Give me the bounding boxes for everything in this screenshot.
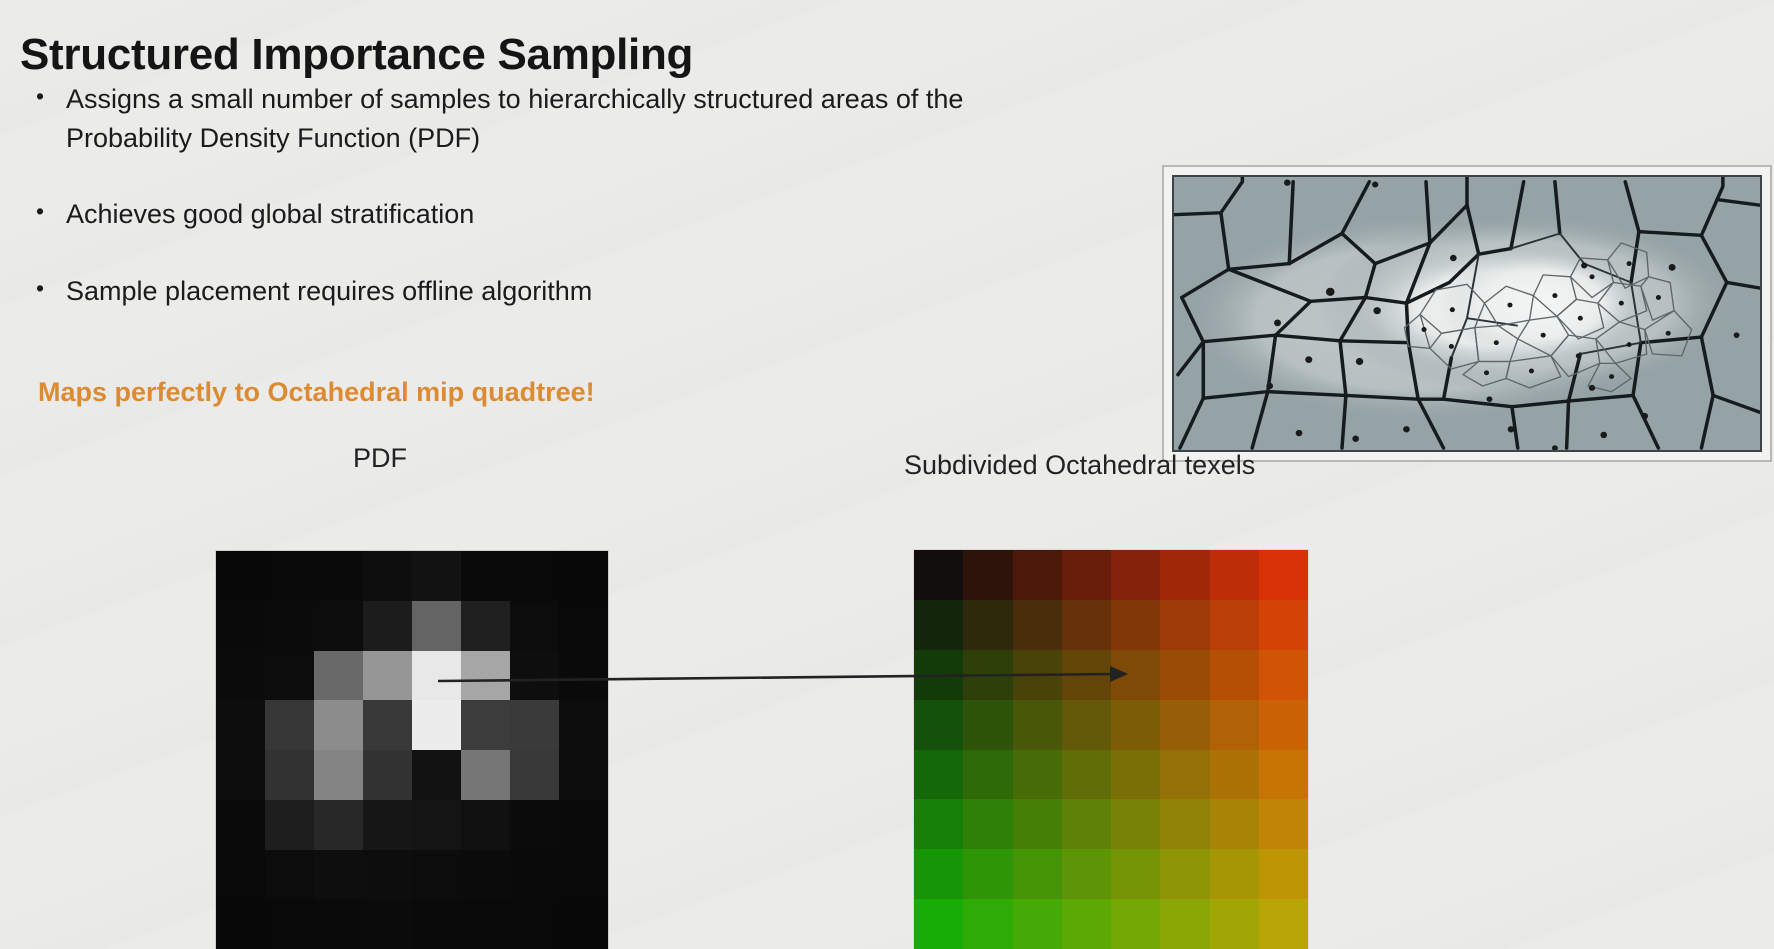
octahedral-texel-cell <box>963 849 1012 899</box>
octahedral-texel-cell <box>1259 799 1308 849</box>
octahedral-texel-cell <box>1210 899 1259 949</box>
octahedral-texel-cell <box>1062 550 1111 600</box>
bullet-item-1: • Assigns a small number of samples to h… <box>36 80 976 158</box>
octahedral-texel-cell <box>1013 750 1062 800</box>
bullet-item-3: • Sample placement requires offline algo… <box>36 272 592 311</box>
octahedral-texel-cell <box>1259 849 1308 899</box>
octahedral-texel-cell <box>1062 750 1111 800</box>
pdf-texel-cell <box>314 750 363 800</box>
octahedral-texel-cell <box>1013 700 1062 750</box>
pdf-texel-cell <box>363 850 412 900</box>
octahedral-texel-cell <box>914 600 963 650</box>
octahedral-texel-cell <box>1013 550 1062 600</box>
pdf-texel-cell <box>412 601 461 651</box>
highlight-callout-text: Maps perfectly to Octahedral mip quadtre… <box>38 377 595 408</box>
octahedral-texel-cell <box>1210 650 1259 700</box>
pdf-texel-cell <box>265 750 314 800</box>
pdf-texel-cell <box>314 601 363 651</box>
pdf-texel-cell <box>510 601 559 651</box>
octahedral-texel-cell <box>1210 799 1259 849</box>
pdf-texel-cell <box>314 800 363 850</box>
octahedral-texel-cell <box>1013 849 1062 899</box>
pdf-texel-cell <box>559 651 608 701</box>
pdf-texel-cell <box>559 700 608 750</box>
pdf-texel-cell <box>314 551 363 601</box>
octahedral-texel-cell <box>1062 799 1111 849</box>
octahedral-texel-cell <box>1259 899 1308 949</box>
octahedral-texel-cell <box>1160 849 1209 899</box>
octahedral-texel-cell <box>1013 799 1062 849</box>
pdf-texel-cell <box>216 850 265 900</box>
pdf-texel-cell <box>412 651 461 701</box>
pdf-texel-cell <box>461 700 510 750</box>
octahedral-texel-cell <box>1062 700 1111 750</box>
octahedral-texel-cell <box>1210 849 1259 899</box>
octahedral-texel-cell <box>1160 650 1209 700</box>
octahedral-texel-cell <box>1160 550 1209 600</box>
octahedral-texel-cell <box>1013 600 1062 650</box>
pdf-texel-cell <box>216 601 265 651</box>
pdf-texel-cell <box>216 750 265 800</box>
voronoi-diagram-panel <box>1162 165 1772 462</box>
octahedral-texel-cell <box>1111 550 1160 600</box>
octahedral-texel-cell <box>963 550 1012 600</box>
octahedral-texel-cell <box>914 799 963 849</box>
octahedral-texel-cell <box>914 550 963 600</box>
pdf-texel-cell <box>510 899 559 949</box>
pdf-texel-cell <box>363 551 412 601</box>
page-title: Structured Importance Sampling <box>20 30 693 80</box>
subdivided-octahedral-texel-grid <box>914 550 1308 949</box>
pdf-texel-cell <box>314 700 363 750</box>
bullet-text: Achieves good global stratification <box>66 195 474 234</box>
octahedral-texel-cell <box>1210 600 1259 650</box>
octahedral-texel-cell <box>1111 600 1160 650</box>
pdf-texel-cell <box>412 850 461 900</box>
octahedral-texel-cell <box>1062 650 1111 700</box>
octahedral-texel-cell <box>963 700 1012 750</box>
octahedral-texel-cell <box>914 849 963 899</box>
pdf-texel-cell <box>363 899 412 949</box>
octahedral-texel-cell <box>1111 750 1160 800</box>
pdf-texel-cell <box>412 750 461 800</box>
pdf-texel-cell <box>265 850 314 900</box>
pdf-texel-cell <box>363 651 412 701</box>
octahedral-texel-cell <box>1259 650 1308 700</box>
pdf-texel-grid <box>216 551 608 949</box>
voronoi-diagram-inner <box>1172 175 1762 452</box>
octahedral-texel-cell <box>1210 550 1259 600</box>
pdf-texel-cell <box>559 850 608 900</box>
pdf-texel-cell <box>412 700 461 750</box>
octahedral-texel-cell <box>963 899 1012 949</box>
bullet-text: Sample placement requires offline algori… <box>66 272 592 311</box>
octahedral-texel-cell <box>1111 799 1160 849</box>
pdf-texel-cell <box>412 899 461 949</box>
octahedral-texel-cell <box>1259 600 1308 650</box>
octahedral-texel-cell <box>1013 650 1062 700</box>
octahedral-texel-cell <box>1210 700 1259 750</box>
octahedral-texel-cell <box>1111 899 1160 949</box>
octahedral-texel-cell <box>1062 849 1111 899</box>
pdf-texel-cell <box>412 551 461 601</box>
octahedral-texel-cell <box>914 650 963 700</box>
pdf-texel-cell <box>559 601 608 651</box>
octahedral-texel-cell <box>914 700 963 750</box>
pdf-texel-cell <box>461 850 510 900</box>
pdf-texel-cell <box>265 651 314 701</box>
pdf-texel-cell <box>559 899 608 949</box>
octahedral-texel-cell <box>914 899 963 949</box>
slide-canvas: Structured Importance Sampling • Assigns… <box>0 0 1774 949</box>
texel-image-caption: Subdivided Octahedral texels <box>904 450 1255 481</box>
pdf-texel-cell <box>412 800 461 850</box>
pdf-texel-cell <box>314 850 363 900</box>
octahedral-texel-cell <box>1111 849 1160 899</box>
octahedral-texel-cell <box>1062 600 1111 650</box>
pdf-texel-cell <box>363 800 412 850</box>
octahedral-texel-cell <box>963 600 1012 650</box>
pdf-texel-cell <box>216 651 265 701</box>
octahedral-texel-cell <box>963 650 1012 700</box>
pdf-texel-cell <box>510 551 559 601</box>
pdf-texel-cell <box>216 899 265 949</box>
octahedral-texel-cell <box>1160 799 1209 849</box>
pdf-texel-cell <box>461 800 510 850</box>
octahedral-texel-cell <box>914 750 963 800</box>
pdf-texel-cell <box>265 800 314 850</box>
bullet-marker-icon: • <box>36 272 66 305</box>
octahedral-texel-cell <box>1160 600 1209 650</box>
octahedral-texel-cell <box>1259 750 1308 800</box>
octahedral-texel-cell <box>1111 700 1160 750</box>
octahedral-texel-cell <box>1160 899 1209 949</box>
pdf-texel-cell <box>216 800 265 850</box>
octahedral-texel-cell <box>1013 899 1062 949</box>
pdf-texel-cell <box>363 601 412 651</box>
pdf-texel-cell <box>265 700 314 750</box>
pdf-texel-cell <box>461 750 510 800</box>
octahedral-texel-cell <box>1259 700 1308 750</box>
pdf-texel-cell <box>265 601 314 651</box>
pdf-texel-cell <box>510 800 559 850</box>
pdf-texel-cell <box>461 551 510 601</box>
octahedral-texel-cell <box>1160 700 1209 750</box>
pdf-texel-cell <box>510 651 559 701</box>
pdf-texel-cell <box>559 800 608 850</box>
bullet-text: Assigns a small number of samples to hie… <box>66 80 976 158</box>
octahedral-texel-cell <box>1062 899 1111 949</box>
pdf-texel-cell <box>461 899 510 949</box>
bullet-marker-icon: • <box>36 80 66 113</box>
pdf-texel-cell <box>314 899 363 949</box>
pdf-texel-cell <box>510 750 559 800</box>
pdf-texel-cell <box>363 700 412 750</box>
octahedral-texel-cell <box>1160 750 1209 800</box>
voronoi-diagram-svg <box>1174 177 1760 450</box>
pdf-texel-cell <box>216 700 265 750</box>
bullet-marker-icon: • <box>36 195 66 228</box>
octahedral-texel-cell <box>963 750 1012 800</box>
pdf-texel-cell <box>510 700 559 750</box>
pdf-image-caption: PDF <box>353 443 407 474</box>
pdf-texel-cell <box>265 551 314 601</box>
octahedral-texel-cell <box>1111 650 1160 700</box>
octahedral-texel-cell <box>1259 550 1308 600</box>
pdf-texel-cell <box>265 899 314 949</box>
octahedral-texel-cell <box>963 799 1012 849</box>
pdf-texel-cell <box>314 651 363 701</box>
pdf-texel-cell <box>461 651 510 701</box>
pdf-texel-cell <box>510 850 559 900</box>
pdf-texel-cell <box>216 551 265 601</box>
bullet-item-2: • Achieves good global stratification <box>36 195 474 234</box>
pdf-texel-cell <box>363 750 412 800</box>
octahedral-texel-cell <box>1210 750 1259 800</box>
pdf-texel-cell <box>461 601 510 651</box>
pdf-texel-cell <box>559 551 608 601</box>
pdf-texel-cell <box>559 750 608 800</box>
